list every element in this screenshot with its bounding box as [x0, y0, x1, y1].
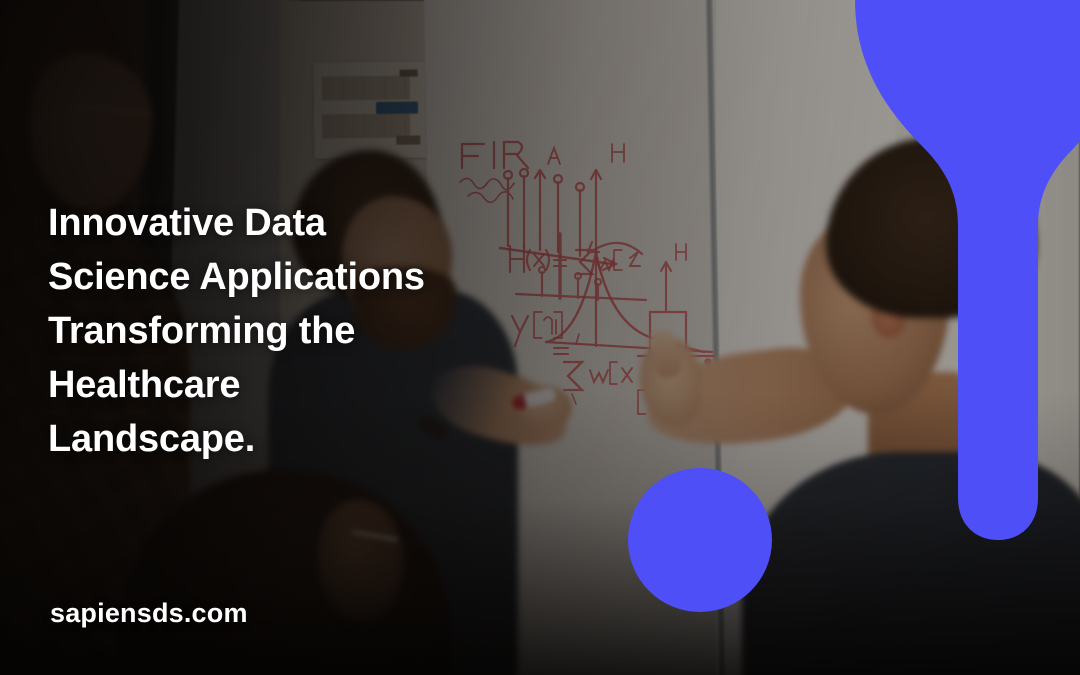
headline-line-4: Healthcare: [48, 358, 568, 412]
headline-line-1: Innovative Data: [48, 196, 568, 250]
headline: Innovative Data Science Applications Tra…: [48, 196, 568, 466]
site-url[interactable]: sapiensds.com: [50, 598, 248, 629]
headline-line-3: Transforming the: [48, 304, 568, 358]
circle-dot-shape: [628, 468, 772, 612]
funnel-droplet-shape: [855, 0, 1080, 540]
promo-banner: Innovative Data Science Applications Tra…: [0, 0, 1080, 675]
headline-line-5: Landscape.: [48, 412, 568, 466]
headline-line-2: Science Applications: [48, 250, 568, 304]
